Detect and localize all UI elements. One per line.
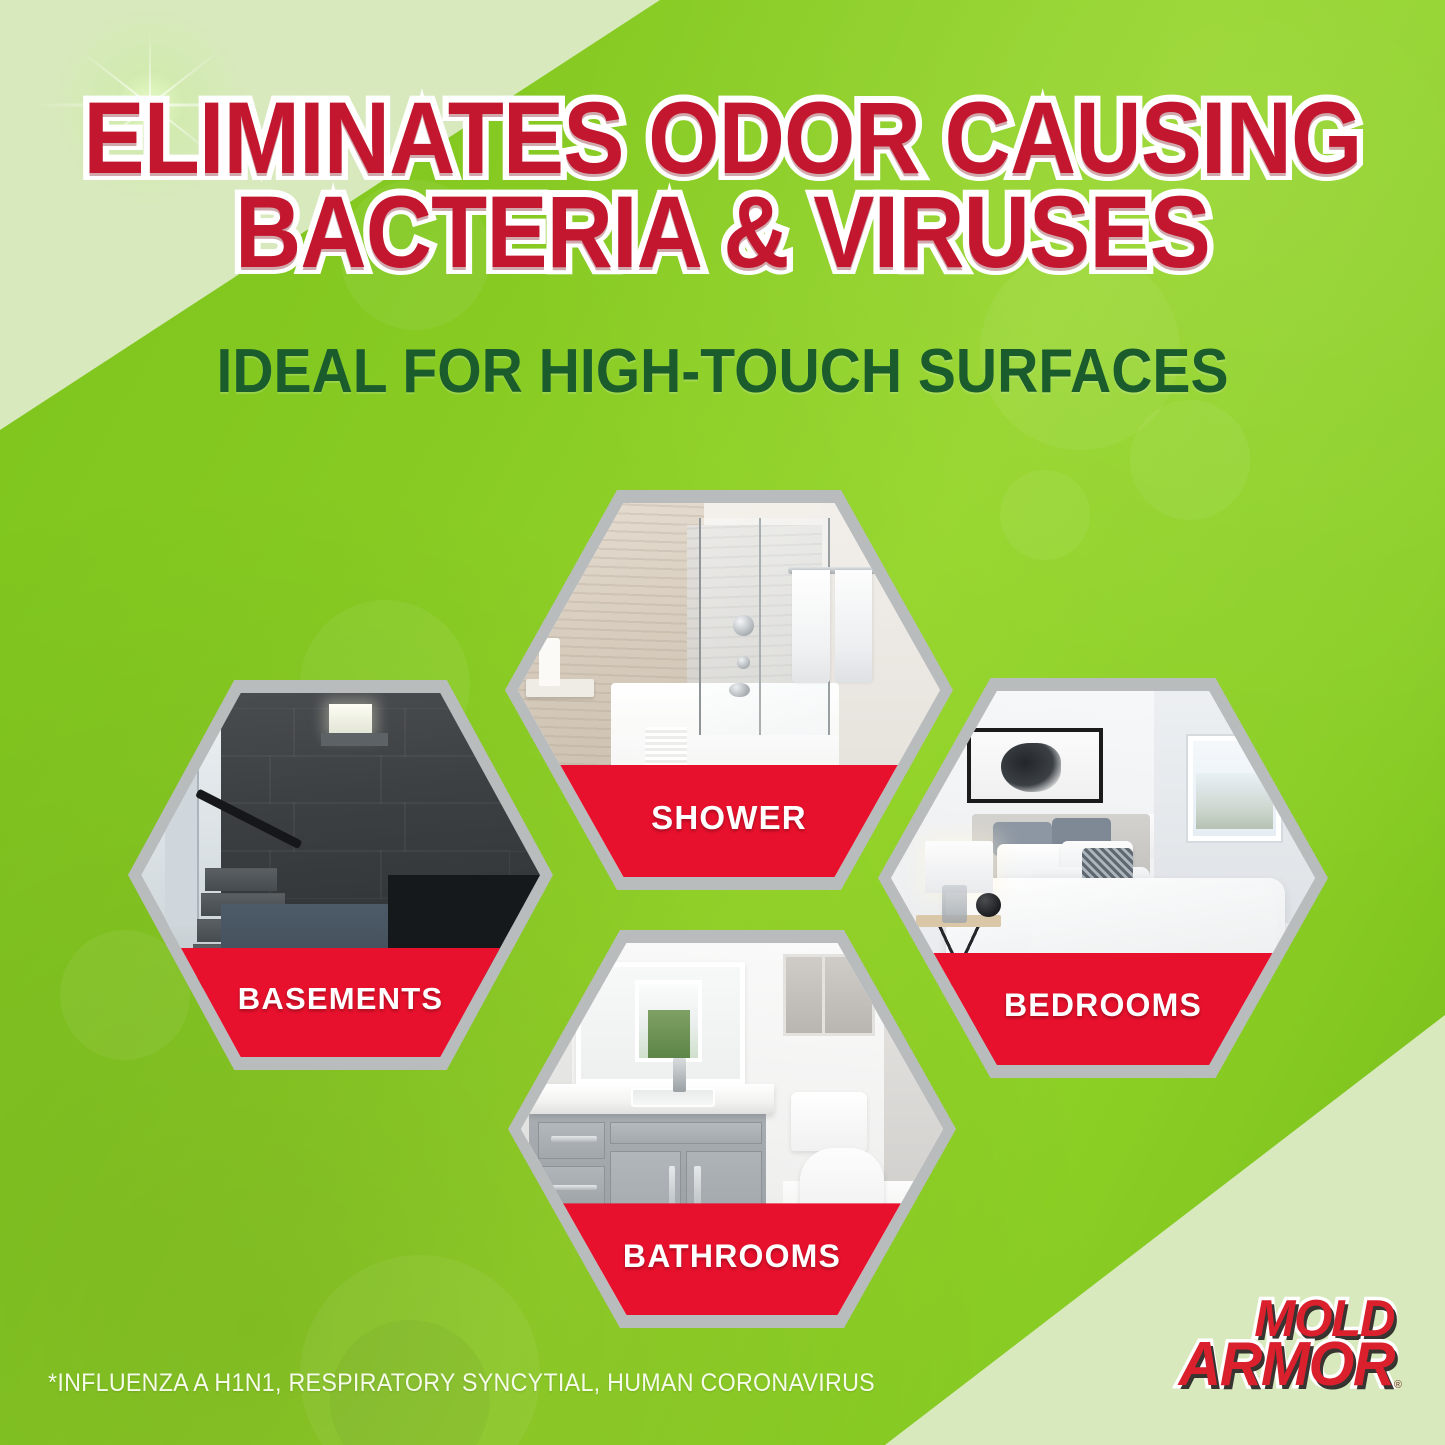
hexagon-cluster: BASEMENTS	[0, 0, 1445, 1445]
promo-poster: ELIMINATES ODOR CAUSING BACTERIA & VIRUS…	[0, 0, 1445, 1445]
hexagon-label-bedrooms: BEDROOMS	[1004, 987, 1202, 1024]
hexagon-card-shower[interactable]: SHOWER	[505, 490, 953, 890]
hexagon-card-bedrooms[interactable]: BEDROOMS	[878, 678, 1328, 1078]
hexagon-label-band-shower: SHOWER	[518, 765, 940, 877]
hexagon-label-band-bedrooms: BEDROOMS	[891, 953, 1315, 1065]
hexagon-inner-bathrooms: BATHROOMS	[521, 943, 943, 1315]
hexagon-inner-shower: SHOWER	[518, 503, 940, 877]
hexagon-label-basements: BASEMENTS	[238, 981, 443, 1017]
hexagon-inner-bedrooms: BEDROOMS	[891, 691, 1315, 1065]
hexagon-label-shower: SHOWER	[651, 799, 807, 837]
hexagon-label-bathrooms: BATHROOMS	[623, 1238, 841, 1275]
hexagon-inner-basements: BASEMENTS	[141, 693, 540, 1057]
hexagon-card-basements[interactable]: BASEMENTS	[128, 680, 553, 1070]
hexagon-card-bathrooms[interactable]: BATHROOMS	[508, 930, 956, 1328]
hexagon-label-band-basements: BASEMENTS	[141, 948, 540, 1057]
footnote: *INFLUENZA A H1N1, RESPIRATORY SYNCYTIAL…	[48, 1369, 875, 1398]
hexagon-label-band-bathrooms: BATHROOMS	[521, 1203, 943, 1315]
